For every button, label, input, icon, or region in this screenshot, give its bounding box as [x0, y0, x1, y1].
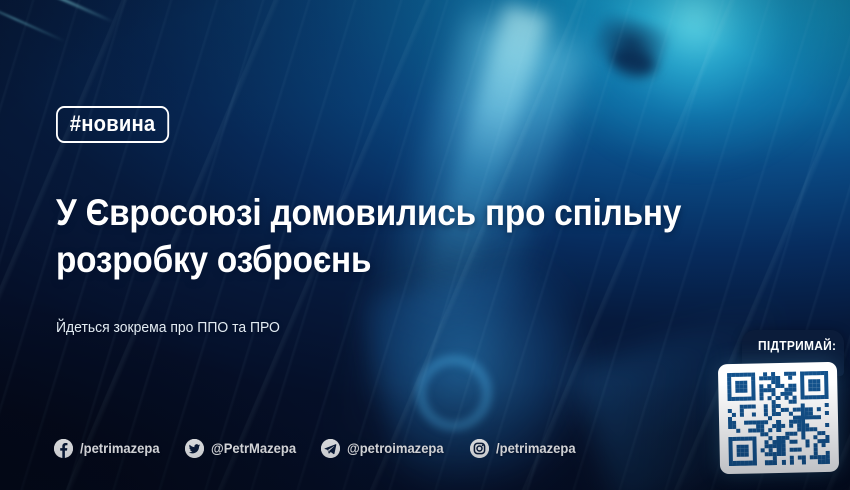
- news-card: #новина У Євросоюзі домовились про спіль…: [0, 0, 850, 490]
- twitter-icon: [185, 439, 204, 458]
- social-link-twitter[interactable]: @PetrMazepa: [185, 439, 302, 458]
- social-link-telegram[interactable]: @petroimazepa: [321, 439, 451, 458]
- category-badge[interactable]: #новина: [56, 106, 169, 143]
- page-title: У Євросоюзі домовились про спільну розро…: [56, 189, 704, 283]
- social-links-row: /petrimazepa @PetrMazepa @petroimazepa /…: [54, 435, 582, 461]
- instagram-icon: [470, 439, 489, 458]
- social-handle-instagram: /petrimazepa: [496, 441, 576, 455]
- social-handle-twitter: @PetrMazepa: [211, 441, 296, 455]
- facebook-icon: [54, 439, 73, 458]
- qr-code-card[interactable]: [718, 362, 839, 474]
- content-layer: #новина У Євросоюзі домовились про спіль…: [0, 0, 850, 490]
- subtitle-text: Йдеться зокрема про ППО та ПРО: [56, 318, 280, 338]
- qr-code: [727, 370, 830, 465]
- social-handle-telegram: @petroimazepa: [347, 441, 444, 455]
- social-handle-facebook: /petrimazepa: [80, 441, 160, 455]
- social-link-facebook[interactable]: /petrimazepa: [54, 439, 166, 458]
- support-label: ПІДТРИМАЙ:: [758, 339, 836, 352]
- social-link-instagram[interactable]: /petrimazepa: [470, 439, 582, 458]
- telegram-icon: [321, 439, 340, 458]
